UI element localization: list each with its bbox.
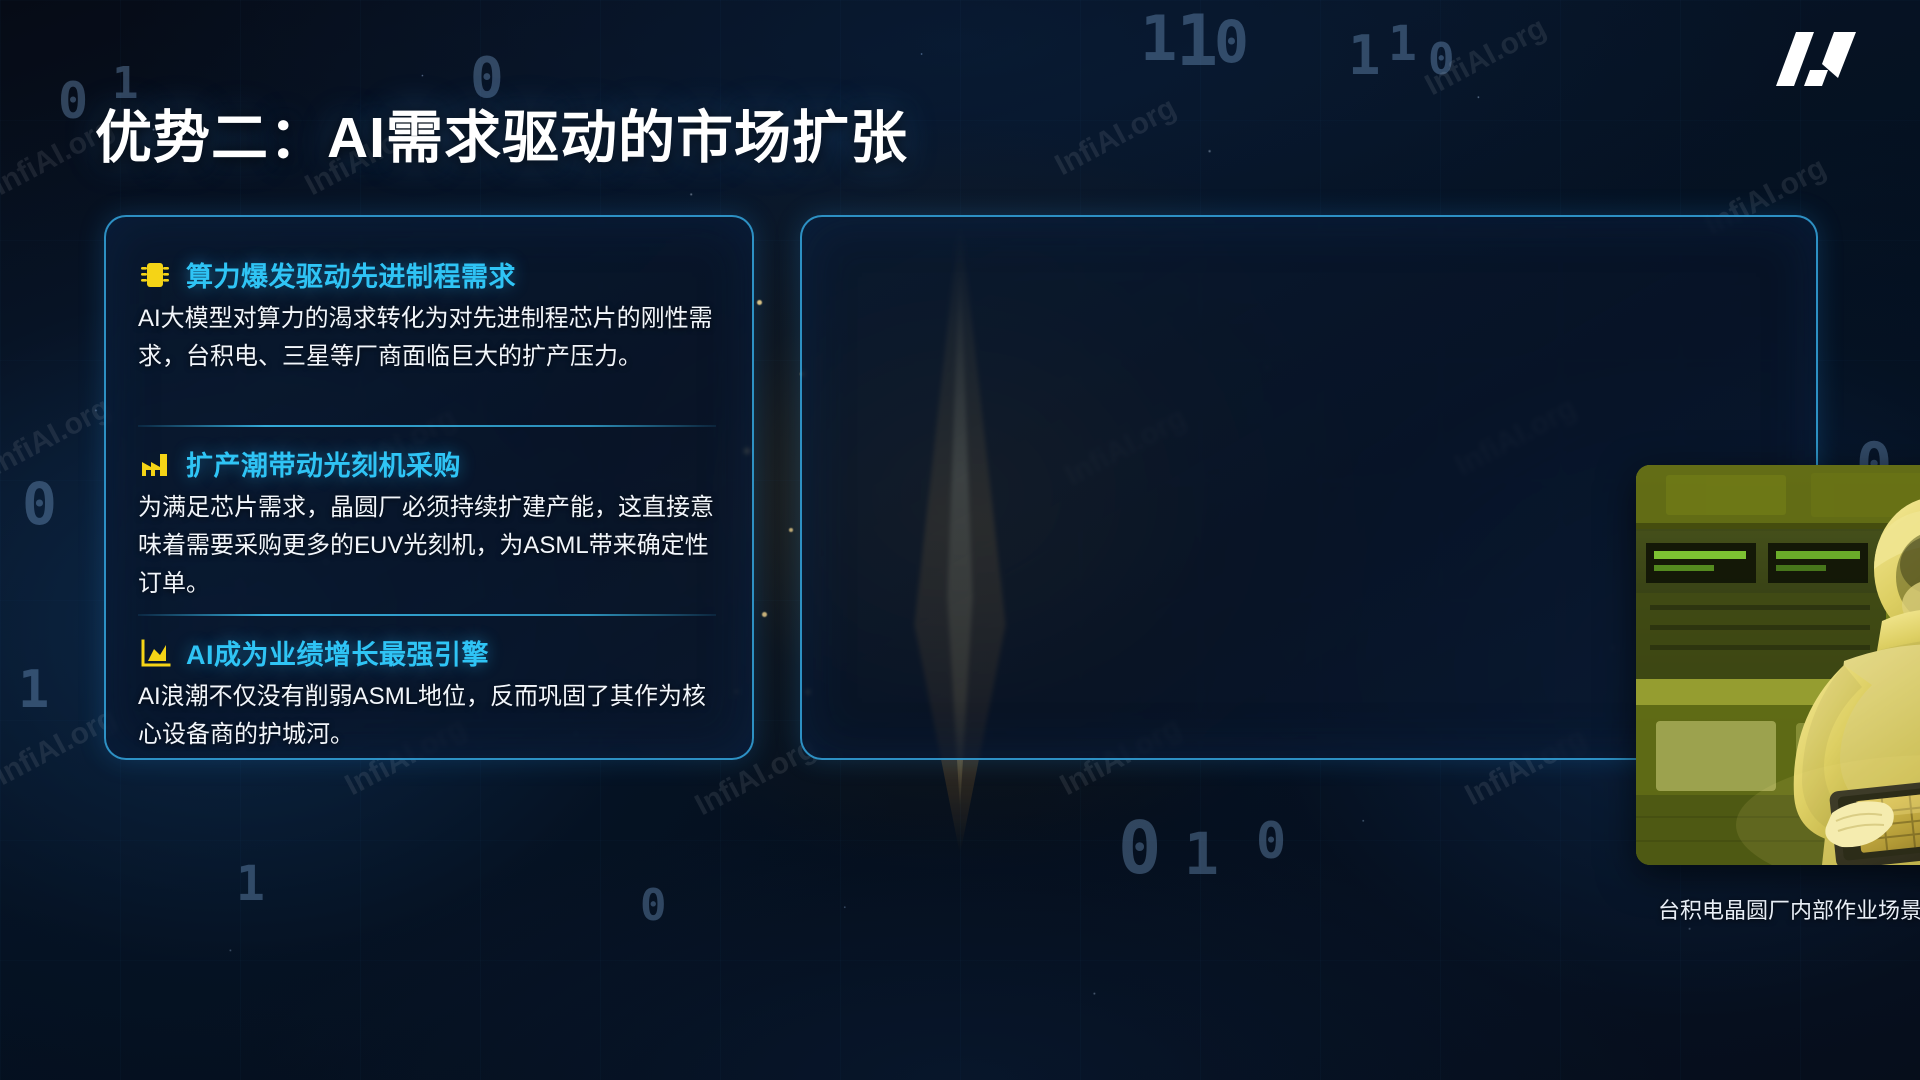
spark-particle bbox=[762, 612, 767, 617]
section-computing-demand: 算力爆发驱动先进制程需求 AI大模型对算力的渴求转化为对先进制程芯片的刚性需求，… bbox=[138, 255, 728, 376]
section-header: 算力爆发驱动先进制程需求 bbox=[138, 255, 728, 294]
section-header: 扩产潮带动光刻机采购 bbox=[138, 444, 728, 483]
fab-photo bbox=[1636, 465, 1920, 865]
page-title: 优势二：AI需求驱动的市场扩张 bbox=[95, 92, 908, 174]
section-divider bbox=[138, 425, 716, 427]
binary-decor: 1 bbox=[236, 856, 265, 912]
bar-chart-icon bbox=[138, 636, 172, 670]
section-title: 算力爆发驱动先进制程需求 bbox=[186, 255, 516, 294]
section-title: 扩产潮带动光刻机采购 bbox=[186, 444, 461, 483]
binary-decor: 0 bbox=[22, 470, 57, 538]
section-title: AI成为业绩增长最强引擎 bbox=[186, 633, 489, 672]
chip-icon bbox=[138, 258, 172, 292]
fab-photo-illustration bbox=[1636, 465, 1920, 865]
section-body: AI大模型对算力的渴求转化为对先进制程芯片的刚性需求，台积电、三星等厂商面临巨大… bbox=[138, 300, 728, 376]
binary-decor: 1 bbox=[1140, 2, 1177, 75]
bullets-card: 算力爆发驱动先进制程需求 AI大模型对算力的渴求转化为对先进制程芯片的刚性需求，… bbox=[104, 215, 754, 760]
binary-decor: 1 bbox=[18, 660, 49, 720]
section-body: 为满足芯片需求，晶圆厂必须持续扩建产能，这直接意味着需要采购更多的EUV光刻机，… bbox=[138, 489, 728, 603]
binary-decor: 1 bbox=[1184, 820, 1219, 888]
binary-decor: 0 bbox=[1428, 34, 1455, 85]
slide-canvas: 1 1 0 1 1 0 0 0 1 0 1 0 0 0 1 0 1 0 Infi… bbox=[0, 0, 1920, 1080]
binary-decor: 0 bbox=[1118, 806, 1161, 890]
binary-decor: 1 bbox=[1388, 16, 1417, 72]
watermark: InfiAI.org bbox=[1420, 11, 1552, 103]
section-body: AI浪潮不仅没有削弱ASML地位，反而巩固了其作为核心设备商的护城河。 bbox=[138, 678, 728, 754]
binary-decor: 0 bbox=[1214, 8, 1249, 76]
factory-icon bbox=[138, 447, 172, 481]
binary-decor: 0 bbox=[58, 72, 88, 130]
section-ai-growth-engine: AI成为业绩增长最强引擎 AI浪潮不仅没有削弱ASML地位，反而巩固了其作为核心… bbox=[138, 633, 728, 754]
media-card: 台积电晶圆厂内部作业场景，核心设备依赖ASML光刻机 bbox=[800, 215, 1818, 760]
section-capacity-expansion: 扩产潮带动光刻机采购 为满足芯片需求，晶圆厂必须持续扩建产能，这直接意味着需要采… bbox=[138, 444, 728, 603]
infiai-logo bbox=[1770, 26, 1862, 104]
binary-decor: 0 bbox=[640, 880, 667, 931]
watermark: InfiAI.org bbox=[0, 391, 116, 483]
spark-particle bbox=[789, 528, 793, 532]
binary-decor: 1 bbox=[1348, 24, 1381, 87]
spark-particle bbox=[757, 300, 762, 305]
watermark: InfiAI.org bbox=[1050, 91, 1182, 183]
binary-decor: 1 bbox=[1176, 0, 1218, 82]
binary-decor: 0 bbox=[1256, 812, 1286, 870]
section-divider bbox=[138, 614, 716, 616]
photo-caption: 台积电晶圆厂内部作业场景，核心设备依赖ASML光刻机 bbox=[1658, 893, 1920, 925]
section-header: AI成为业绩增长最强引擎 bbox=[138, 633, 728, 672]
